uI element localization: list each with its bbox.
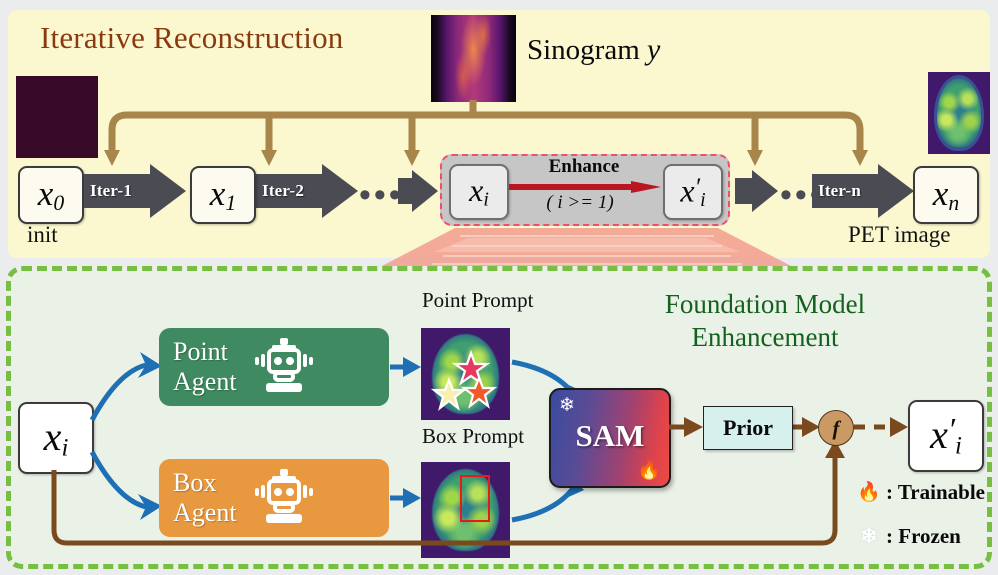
point-prompt-image — [421, 328, 510, 420]
snowflake-icon: ❄ — [559, 396, 575, 415]
enhance-label: Enhance — [509, 156, 659, 178]
node-xn: xn — [913, 166, 979, 224]
legend-frozen: ❄ : Frozen — [856, 524, 963, 549]
iteration-2-label: Iter-2 — [262, 181, 304, 201]
fusion-label: f — [833, 416, 840, 441]
iteration-1-label: Iter-1 — [90, 181, 132, 201]
node-xi-top-symbol: x — [469, 172, 483, 208]
robot-icon — [253, 467, 315, 530]
point-agent-label: Point Agent — [173, 337, 237, 397]
box-agent-box[interactable]: Box Agent — [159, 459, 389, 537]
node-xi-prime-output-symbol: x — [930, 412, 948, 457]
node-xi-input: xi — [18, 402, 94, 474]
sinogram-image — [431, 15, 516, 102]
point-prompt-label: Point Prompt — [422, 288, 533, 313]
pet-image — [928, 72, 990, 154]
legend-trainable-text: : Trainable — [886, 480, 985, 505]
box-agent-label: Box Agent — [173, 468, 237, 528]
panel-title-foundation-model: Foundation Model Enhancement — [600, 288, 930, 354]
sam-box[interactable]: ❄ SAM 🔥 — [549, 388, 671, 488]
node-x1-subscript: 1 — [225, 191, 236, 215]
iteration-1-arrow: Iter-1 — [84, 168, 186, 214]
node-xi-prime-top-subscript: i — [700, 189, 706, 211]
node-xi-top: xi — [449, 164, 509, 220]
sinogram-symbol: y — [647, 33, 660, 66]
sinogram-label: Sinogram y — [527, 33, 660, 67]
node-xi-prime-output-subscript: i — [955, 433, 962, 460]
panel-title-iterative-reconstruction: Iterative Reconstruction — [40, 20, 344, 56]
point-agent-line-1: Point — [173, 337, 237, 367]
node-xi-prime-output-prime: ′ — [948, 411, 955, 447]
node-xn-symbol: x — [933, 174, 949, 213]
node-x1: x1 — [190, 166, 256, 224]
iteration-n-arrow: Iter-n — [812, 168, 914, 214]
node-x1-symbol: x — [210, 174, 226, 213]
ellipsis-left: ••• — [359, 178, 404, 212]
node-xi-prime-top-symbol: x — [680, 173, 694, 209]
prior-label: Prior — [723, 415, 773, 441]
panel-title-line-2: Enhancement — [600, 321, 930, 354]
legend-frozen-text: : Frozen — [886, 524, 961, 549]
box-prompt-label: Box Prompt — [422, 424, 524, 449]
node-xn-subscript: n — [948, 191, 959, 215]
node-xi-top-subscript: i — [483, 189, 489, 211]
iteration-2-arrow: Iter-2 — [256, 168, 358, 214]
box-prompt-rectangle — [460, 475, 490, 521]
panel-title-line-1: Foundation Model — [600, 288, 930, 321]
box-prompt-image — [421, 462, 510, 558]
init-image — [16, 76, 98, 158]
point-agent-line-2: Agent — [173, 367, 237, 397]
node-xi-input-symbol: x — [44, 414, 62, 459]
ellipsis-right: ••• — [780, 178, 825, 212]
legend-trainable: 🔥 : Trainable — [856, 480, 987, 505]
diagram-canvas: Iterative Reconstruction init Sinogram y… — [0, 0, 998, 575]
snowflake-icon: ❄ — [856, 524, 882, 549]
pet-image-label: PET image — [848, 222, 950, 248]
prior-box[interactable]: Prior — [703, 406, 793, 450]
init-label: init — [27, 222, 58, 248]
node-x0-symbol: x — [38, 174, 54, 213]
fusion-node[interactable]: f — [818, 410, 854, 446]
node-x0: x0 — [18, 166, 84, 224]
flame-icon: 🔥 — [637, 461, 661, 480]
node-x0-subscript: 0 — [53, 191, 64, 215]
flame-icon: 🔥 — [856, 483, 882, 502]
sam-label: SAM — [551, 418, 669, 454]
box-agent-line-1: Box — [173, 468, 237, 498]
node-xi-input-subscript: i — [61, 435, 68, 462]
enhance-condition: ( i >= 1) — [505, 192, 655, 214]
point-agent-box[interactable]: Point Agent — [159, 328, 389, 406]
node-xi-prime-output: x′i — [908, 400, 984, 472]
node-xi-prime-top: x′i — [663, 164, 723, 220]
robot-icon — [253, 336, 315, 399]
sinogram-label-text: Sinogram — [527, 34, 640, 66]
box-agent-line-2: Agent — [173, 498, 237, 528]
